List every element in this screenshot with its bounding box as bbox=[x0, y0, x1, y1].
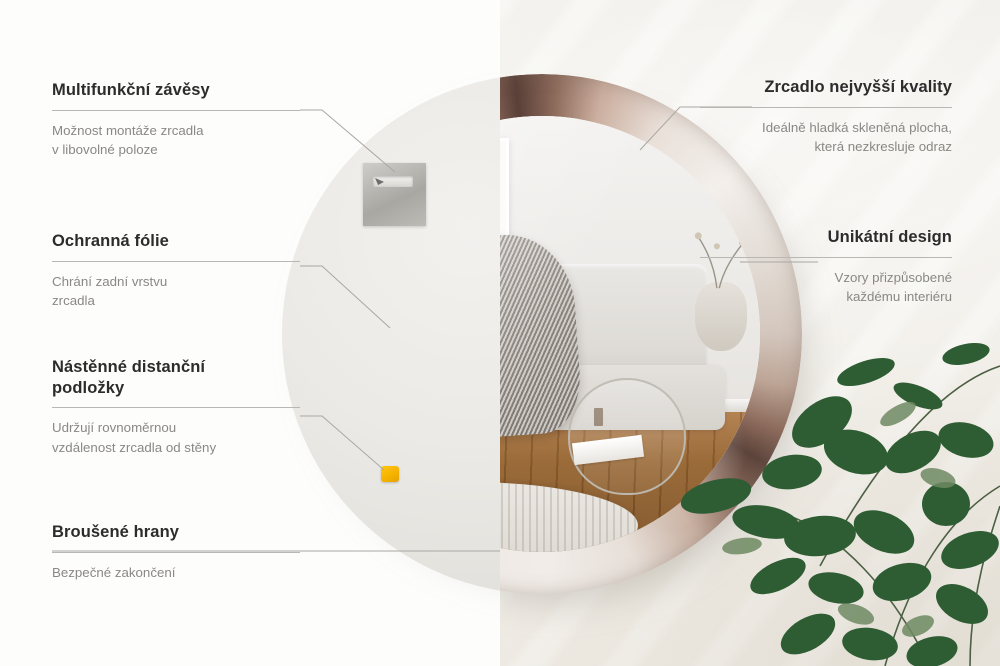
desc-line-2: vzdálenost zrcadla od stěny bbox=[52, 440, 216, 455]
title-line-1: Nástěnné distanční bbox=[52, 358, 205, 376]
callout-zrcadlo-nejvyssi-kvality: Zrcadlo nejvyšší kvality Ideálně hladká … bbox=[700, 77, 952, 157]
callout-rule bbox=[700, 107, 952, 108]
callout-description: Ideálně hladká skleněná plocha, která ne… bbox=[700, 118, 952, 157]
desc-line-2: která nezkresluje odraz bbox=[815, 139, 952, 154]
callout-title: Multifunkční závěsy bbox=[52, 80, 300, 101]
callout-brousene-hrany: Broušené hrany Bezpečné zakončení bbox=[52, 522, 300, 582]
callout-description: Vzory přizpůsobené každému interiéru bbox=[700, 268, 952, 307]
yellow-spacer-pad bbox=[381, 466, 399, 482]
callout-title: Ochranná fólie bbox=[52, 231, 300, 252]
callout-description: Chrání zadní vrstvu zrcadla bbox=[52, 272, 300, 311]
callout-rule bbox=[52, 552, 300, 553]
desc-line-1: Ideálně hladká skleněná plocha, bbox=[762, 120, 952, 135]
desc-line-2: každému interiéru bbox=[846, 289, 952, 304]
hanger-keyhole-slot bbox=[373, 176, 413, 187]
desc-line-1: Vzory přizpůsobené bbox=[834, 270, 952, 285]
callout-ochranna-folie: Ochranná fólie Chrání zadní vrstvu zrcad… bbox=[52, 231, 300, 311]
callout-title: Unikátní design bbox=[700, 227, 952, 248]
hanger-plate bbox=[363, 163, 426, 226]
callout-title: Broušené hrany bbox=[52, 522, 300, 543]
callout-rule bbox=[700, 257, 952, 258]
callout-description: Možnost montáže zrcadla v libovolné polo… bbox=[52, 121, 300, 160]
callout-unikatni-design: Unikátní design Vzory přizpůsobené každé… bbox=[700, 227, 952, 307]
callout-rule bbox=[52, 110, 300, 111]
desc-line-1: Udržují rovnoměrnou bbox=[52, 420, 176, 435]
callout-description: Bezpečné zakončení bbox=[52, 563, 300, 583]
desc-line-2: zrcadla bbox=[52, 293, 95, 308]
desc-line-1: Možnost montáže zrcadla bbox=[52, 123, 204, 138]
desc-line-1: Chrání zadní vrstvu bbox=[52, 274, 167, 289]
callout-rule bbox=[52, 261, 300, 262]
title-line-2: podložky bbox=[52, 379, 124, 397]
callout-title: Zrcadlo nejvyšší kvality bbox=[700, 77, 952, 98]
callout-title: Nástěnné distanční podložky bbox=[52, 357, 300, 398]
callout-multifunkcni-zavesy: Multifunkční závěsy Možnost montáže zrca… bbox=[52, 80, 300, 160]
callout-rule bbox=[52, 407, 300, 408]
callout-nastenne-distancni-podlozky: Nástěnné distanční podložky Udržují rovn… bbox=[52, 357, 300, 457]
callout-description: Udržují rovnoměrnou vzdálenost zrcadla o… bbox=[52, 418, 300, 457]
desc-line-2: v libovolné poloze bbox=[52, 142, 158, 157]
infographic-canvas: Multifunkční závěsy Možnost montáže zrca… bbox=[0, 0, 1000, 666]
